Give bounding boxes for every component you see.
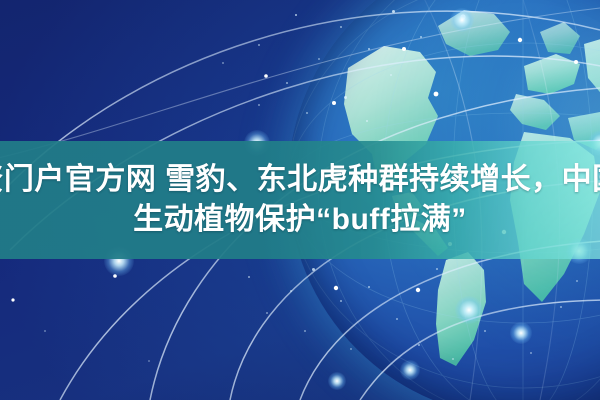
particle-dot — [452, 358, 454, 360]
particle-dot — [312, 268, 315, 271]
particle-dot — [420, 36, 422, 38]
particle-dot — [290, 290, 292, 292]
glow-point — [510, 322, 532, 344]
particle-dot — [286, 82, 288, 84]
particle-dot — [368, 286, 370, 288]
particle-dot — [436, 268, 438, 270]
glow-point — [328, 372, 346, 390]
particle-dot — [306, 112, 308, 114]
particle-dot — [350, 348, 352, 350]
particle-dot — [390, 74, 392, 76]
particle-dot — [258, 104, 260, 106]
particle-dot — [304, 330, 306, 332]
particle-dot — [222, 62, 224, 64]
particle-dot — [340, 300, 342, 302]
headline-band: 配资门户官方网 雪豹、东北虎种群持续增长，中国野 生动植物保护“buff拉满” — [0, 141, 600, 259]
particle-dot — [295, 14, 297, 16]
news-banner-image: 配资门户官方网 雪豹、东北虎种群持续增长，中国野 生动植物保护“buff拉满” — [0, 0, 600, 400]
particle-dot — [266, 312, 268, 314]
particle-dot — [148, 360, 150, 362]
particle-dot — [392, 10, 395, 13]
particle-dot — [258, 44, 260, 46]
glow-point — [450, 8, 474, 32]
particle-dot — [396, 318, 398, 320]
headline-line-2: 生动植物保护“buff拉满” — [133, 201, 467, 239]
particle-dot — [484, 330, 486, 332]
particle-dot — [366, 120, 368, 122]
particle-dot — [344, 96, 347, 99]
particle-dot — [318, 58, 320, 60]
particle-dot — [560, 306, 562, 308]
particle-dot — [576, 280, 578, 282]
particle-dot — [368, 48, 370, 50]
particle-dot — [530, 352, 532, 354]
glow-point — [455, 296, 483, 324]
particle-dot — [44, 330, 46, 332]
particle-dot — [248, 276, 250, 278]
glow-point — [400, 360, 420, 380]
particle-dot — [340, 26, 342, 28]
particle-dot — [418, 344, 420, 346]
headline-line-1: 配资门户官方网 雪豹、东北虎种群持续增长，中国野 — [0, 161, 600, 199]
